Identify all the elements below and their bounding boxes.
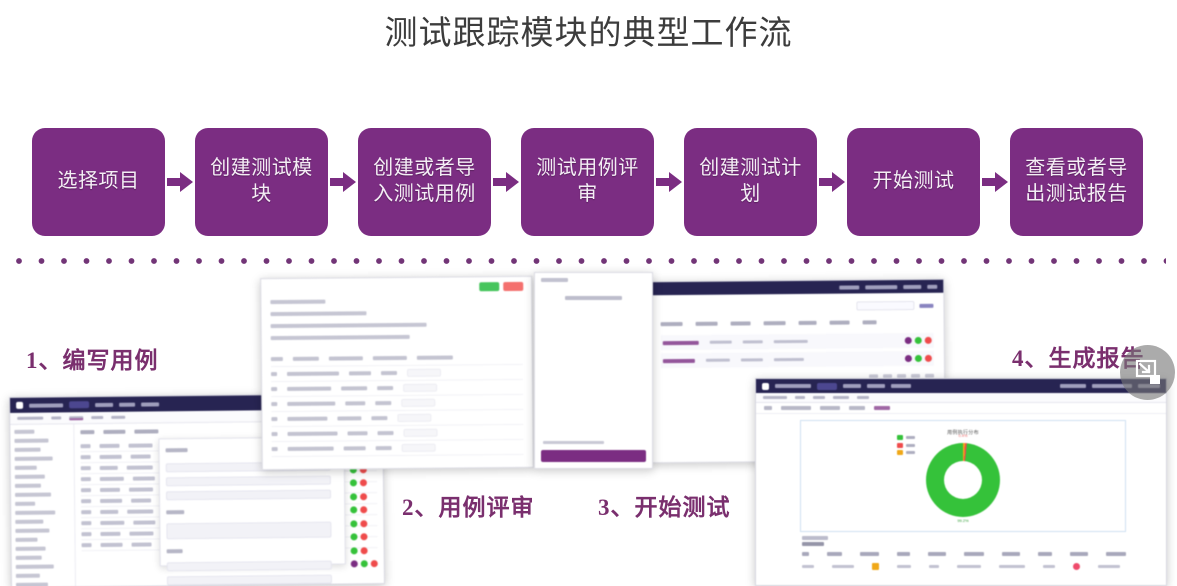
report-detail-table [802, 542, 1126, 570]
screenshot-case-review[interactable] [260, 276, 534, 470]
donut-chart [926, 443, 1000, 517]
screenshot-test-report[interactable]: 用例执行分布 0.4% 99.2% [755, 378, 1167, 586]
slide-canvas: 测试跟踪模块的典型工作流 选择项目 创建测试模块 创建或者导入测试用例 测试用例… [0, 0, 1177, 586]
table-header [661, 320, 934, 326]
flow-step-5[interactable]: 创建测试计划 [684, 128, 847, 236]
flow-box-case-review[interactable]: 测试用例评审 [521, 128, 654, 236]
fail-button[interactable] [371, 560, 378, 567]
report-tab[interactable] [849, 406, 865, 410]
dialog-submit-button[interactable] [541, 450, 646, 462]
dialog-title [565, 296, 621, 300]
nav-tab[interactable] [843, 384, 861, 388]
flow-box-view-or-export-report[interactable]: 查看或者导出测试报告 [1010, 128, 1143, 236]
legend-label-pass [906, 436, 915, 439]
app-logo-icon [762, 383, 769, 390]
chart-annotation-main: 99.2% [957, 518, 968, 523]
page-title: 测试跟踪模块的典型工作流 [0, 6, 1177, 54]
status-badge [872, 563, 879, 570]
pass-button[interactable] [351, 547, 358, 554]
flow-step-3[interactable]: 创建或者导入测试用例 [358, 128, 521, 236]
flow-box-create-module[interactable]: 创建测试模块 [195, 128, 328, 236]
arrow-right-icon [165, 169, 195, 195]
arrow-right-icon [817, 169, 847, 195]
report-tab-active[interactable] [874, 406, 890, 410]
fail-button[interactable] [361, 547, 368, 554]
sub-tab[interactable] [91, 416, 103, 420]
chart-annotation-small: 0.4% [958, 433, 967, 438]
table-header [802, 552, 1126, 556]
dotted-divider [16, 258, 1166, 266]
caption-case-review: 2、用例评审 [402, 488, 535, 522]
report-tab[interactable] [820, 406, 840, 410]
fail-button[interactable] [360, 493, 367, 500]
pass-button[interactable] [361, 560, 368, 567]
app-top-bar [756, 379, 1166, 393]
edit-button[interactable] [351, 560, 358, 567]
legend-swatch-blocked [897, 450, 903, 455]
flow-step-6[interactable]: 开始测试 [847, 128, 1010, 236]
fail-button[interactable] [360, 479, 367, 486]
search-row [660, 301, 933, 312]
workflow-flowchart: 选择项目 创建测试模块 创建或者导入测试用例 测试用例评审 创建测试计划 [32, 128, 1152, 236]
nav-tab[interactable] [867, 384, 885, 388]
pass-button[interactable] [350, 506, 357, 513]
report-section-label [802, 536, 828, 540]
flow-box-create-test-plan[interactable]: 创建测试计划 [684, 128, 817, 236]
table-row[interactable] [661, 333, 934, 350]
table-caption [802, 542, 824, 546]
legend-swatch-fail [897, 443, 903, 448]
legend-label-blocked [906, 451, 915, 454]
row-delete-button[interactable] [925, 337, 932, 344]
row-run-button[interactable] [915, 355, 922, 362]
report-tab-bar [756, 403, 1166, 414]
test-list-body [650, 293, 944, 388]
fail-button[interactable] [360, 533, 367, 540]
fail-button[interactable] [360, 520, 367, 527]
flow-step-7[interactable]: 查看或者导出测试报告 [1010, 128, 1143, 236]
screenshot-review-dialog[interactable] [534, 272, 653, 469]
flow-step-1[interactable]: 选择项目 [32, 128, 195, 236]
dialog-footer-text [543, 441, 604, 445]
reject-button[interactable] [503, 282, 523, 291]
module-tree[interactable] [10, 424, 76, 586]
arrow-right-icon [654, 169, 684, 195]
arrow-right-icon [980, 169, 1010, 195]
sub-tab[interactable] [111, 415, 125, 419]
dialog-header [535, 273, 652, 287]
flow-box-start-test[interactable]: 开始测试 [847, 128, 980, 236]
row-edit-button[interactable] [905, 337, 912, 344]
caption-start-test: 3、开始测试 [598, 488, 731, 522]
caption-write-cases: 1、编写用例 [26, 341, 159, 375]
row-delete-button[interactable] [925, 355, 932, 362]
arrow-right-icon [328, 169, 358, 195]
result-status-column [350, 452, 378, 567]
nav-tab[interactable] [95, 402, 113, 406]
nav-tab[interactable] [891, 384, 911, 388]
table-row[interactable] [272, 440, 524, 457]
legend-label-fail [906, 444, 915, 447]
search-icon[interactable] [919, 303, 933, 307]
flow-box-select-project[interactable]: 选择项目 [32, 128, 165, 236]
legend-swatch-pass [897, 435, 903, 440]
search-input[interactable] [856, 301, 914, 311]
nav-tab-active[interactable] [69, 401, 89, 408]
nav-tab-active[interactable] [817, 383, 837, 390]
flow-step-4[interactable]: 测试用例评审 [521, 128, 684, 236]
chart-legend [897, 435, 915, 455]
nav-tab[interactable] [141, 402, 159, 406]
pass-button[interactable] [350, 479, 357, 486]
row-edit-button[interactable] [905, 355, 912, 362]
review-meta [261, 294, 531, 352]
approve-button[interactable] [479, 282, 499, 291]
status-badge [1073, 563, 1080, 570]
restore-down-icon[interactable] [1120, 345, 1175, 400]
pass-button[interactable] [350, 493, 357, 500]
fail-button[interactable] [360, 506, 367, 513]
flow-box-create-or-import-cases[interactable]: 创建或者导入测试用例 [358, 128, 491, 236]
row-run-button[interactable] [915, 337, 922, 344]
flow-step-2[interactable]: 创建测试模块 [195, 128, 358, 236]
table-row[interactable] [802, 563, 1126, 570]
app-sub-bar [756, 393, 1166, 403]
app-logo-icon [16, 402, 23, 409]
arrow-right-icon [491, 169, 521, 195]
review-step-table [262, 350, 533, 457]
pass-button[interactable] [350, 533, 357, 540]
nav-tab[interactable] [119, 402, 135, 406]
execution-chart-panel: 用例执行分布 0.4% 99.2% [800, 420, 1126, 532]
sub-tab-active[interactable] [69, 416, 83, 420]
table-row[interactable] [661, 351, 934, 368]
pass-button[interactable] [350, 520, 357, 527]
dialog-body [535, 300, 652, 441]
